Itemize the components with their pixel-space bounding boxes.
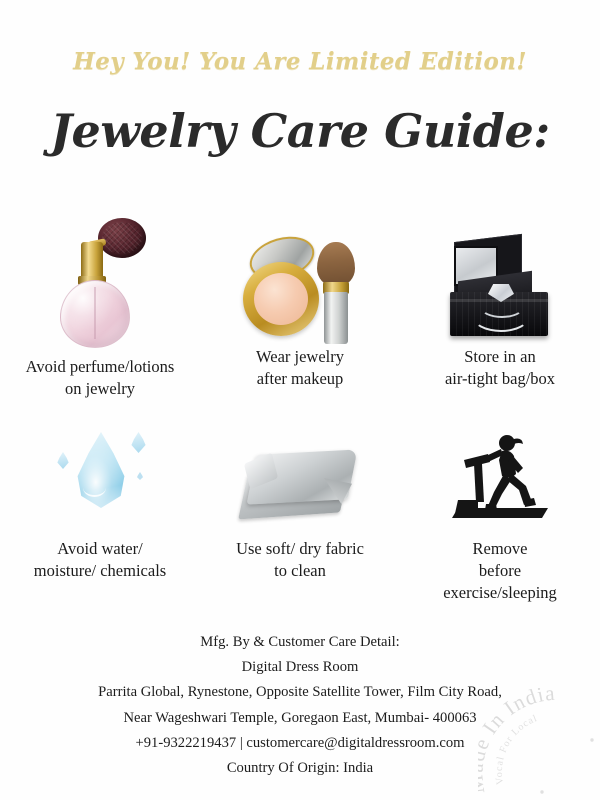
- brush-bristles-icon: [317, 242, 355, 286]
- jewelry-box-icon: [444, 238, 556, 348]
- footer-line-contact: +91-9322219437 | customercare@digitaldre…: [0, 731, 600, 756]
- droplet-small-icon: [131, 432, 146, 453]
- droplet-small-icon: [57, 452, 69, 469]
- treadmill-art-wrap: [444, 420, 556, 530]
- page-title: Jewelry Care Guide:: [0, 104, 600, 158]
- atomizer-bulb-icon: [98, 218, 146, 258]
- tip-caption: Wear jewelry after makeup: [252, 346, 348, 390]
- treadmill-runner-icon: [444, 430, 556, 530]
- footer-line-address-2: Near Wageshwari Temple, Goregaon East, M…: [0, 706, 600, 731]
- tip-caption: Avoid perfume/lotions on jewelry: [22, 356, 179, 400]
- footer-line-heading: Mfg. By & Customer Care Detail:: [0, 630, 600, 655]
- tip-caption: Store in an air-tight bag/box: [441, 346, 559, 390]
- tip-caption: Use soft/ dry fabric to clean: [232, 538, 368, 582]
- tip-card-soft-fabric: Use soft/ dry fabric to clean: [200, 420, 400, 610]
- care-guide-page: Hey You! You Are Limited Edition! Jewelr…: [0, 0, 600, 800]
- bottle-body-icon: [60, 280, 130, 348]
- tips-row-2: Avoid water/ moisture/ chemicals Use sof…: [0, 420, 600, 610]
- tip-card-store-airtight: Store in an air-tight bag/box: [400, 196, 600, 420]
- tip-card-wear-after-makeup: Wear jewelry after makeup: [200, 196, 400, 420]
- tagline-text: Hey You! You Are Limited Edition!: [0, 48, 600, 75]
- tips-row-1: Avoid perfume/lotions on jewelry Wear je…: [0, 196, 600, 420]
- droplet-large-icon: [75, 432, 127, 508]
- tip-card-remove-exercise: Remove before exercise/sleeping: [400, 420, 600, 610]
- droplet-art-wrap: [45, 420, 155, 530]
- perfume-bottle-icon: [52, 214, 148, 348]
- footer-line-company: Digital Dress Room: [0, 655, 600, 680]
- footer-contact-block: Mfg. By & Customer Care Detail: Digital …: [0, 630, 600, 781]
- folded-cloth-icon: [242, 444, 358, 530]
- tip-caption: Avoid water/ moisture/ chemicals: [30, 538, 170, 582]
- makeup-compact-brush-icon: [241, 236, 359, 348]
- compact-powder-icon: [254, 273, 308, 325]
- droplet-tiny-icon: [137, 472, 143, 480]
- tip-card-avoid-water: Avoid water/ moisture/ chemicals: [0, 420, 200, 610]
- tips-grid: Avoid perfume/lotions on jewelry Wear je…: [0, 196, 600, 610]
- footer-line-address-1: Parrita Global, Rynestone, Opposite Sate…: [0, 680, 600, 705]
- tip-caption: Remove before exercise/sleeping: [439, 538, 561, 604]
- jewelry-box-art-wrap: [444, 196, 556, 348]
- compact-pan-icon: [243, 262, 319, 336]
- cloth-art-wrap: [242, 420, 358, 530]
- perfume-art-wrap: [52, 196, 148, 348]
- makeup-art-wrap: [241, 196, 359, 348]
- tip-card-avoid-perfume: Avoid perfume/lotions on jewelry: [0, 196, 200, 420]
- brush-handle-icon: [324, 292, 348, 344]
- footer-line-origin: Country Of Origin: India: [0, 756, 600, 781]
- water-droplet-icon: [45, 426, 155, 530]
